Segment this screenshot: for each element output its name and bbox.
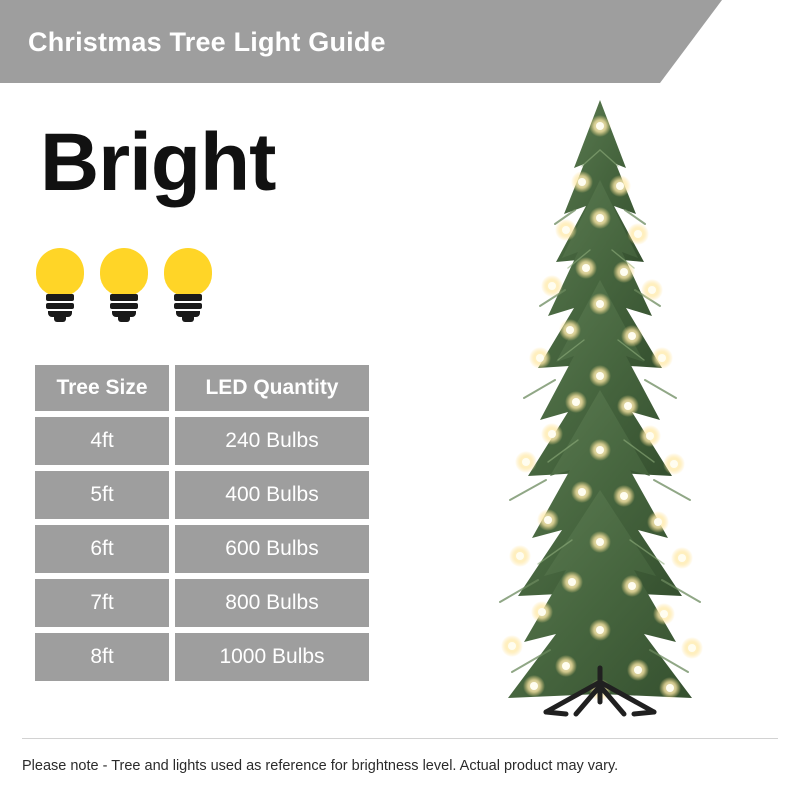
cell-tree-size: 7ft bbox=[32, 576, 172, 630]
cell-tree-size: 5ft bbox=[32, 468, 172, 522]
cell-led-quantity: 1000 Bulbs bbox=[172, 630, 372, 684]
table-row: 7ft 800 Bulbs bbox=[32, 576, 372, 630]
cell-led-quantity: 800 Bulbs bbox=[172, 576, 372, 630]
column-header-led-quantity: LED Quantity bbox=[172, 362, 372, 414]
page-title: Christmas Tree Light Guide bbox=[28, 27, 386, 58]
pre-lit-christmas-tree-photo bbox=[400, 90, 800, 720]
cell-led-quantity: 600 Bulbs bbox=[172, 522, 372, 576]
table-row: 6ft 600 Bulbs bbox=[32, 522, 372, 576]
footer-disclaimer: Please note - Tree and lights used as re… bbox=[22, 758, 782, 774]
brightness-bulb-row bbox=[32, 248, 216, 328]
cell-led-quantity: 240 Bulbs bbox=[172, 414, 372, 468]
cell-tree-size: 6ft bbox=[32, 522, 172, 576]
cell-tree-size: 4ft bbox=[32, 414, 172, 468]
table-row: 5ft 400 Bulbs bbox=[32, 468, 372, 522]
table-row: 8ft 1000 Bulbs bbox=[32, 630, 372, 684]
brightness-level-headline: Bright bbox=[40, 122, 275, 204]
light-bulb-icon bbox=[160, 248, 216, 328]
footer-divider bbox=[22, 738, 778, 739]
light-bulb-icon bbox=[32, 248, 88, 328]
table-row: 4ft 240 Bulbs bbox=[32, 414, 372, 468]
column-header-tree-size: Tree Size bbox=[32, 362, 172, 414]
cell-tree-size: 8ft bbox=[32, 630, 172, 684]
cell-led-quantity: 400 Bulbs bbox=[172, 468, 372, 522]
light-bulb-icon bbox=[96, 248, 152, 328]
table-header-row: Tree Size LED Quantity bbox=[32, 362, 372, 414]
led-quantity-table: Tree Size LED Quantity 4ft 240 Bulbs 5ft… bbox=[32, 362, 372, 684]
